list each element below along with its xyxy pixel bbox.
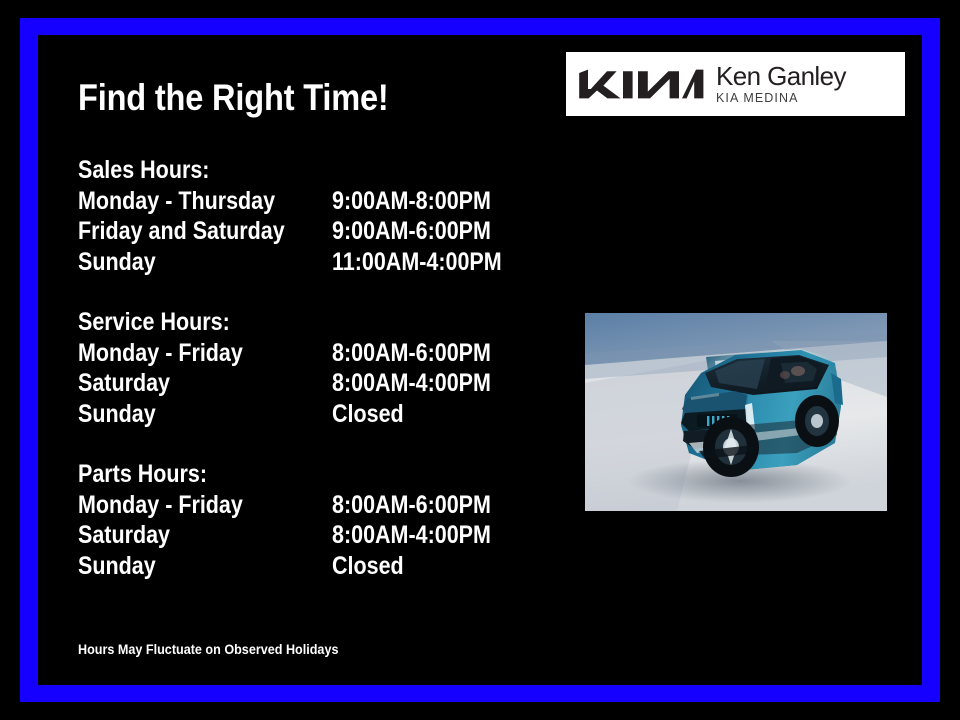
dealer-name: Ken Ganley	[716, 63, 846, 89]
hours-row-time: 11:00AM-4:00PM	[332, 247, 502, 278]
hours-row-time: 8:00AM-6:00PM	[332, 490, 491, 521]
hours-row-time: 8:00AM-4:00PM	[332, 368, 491, 399]
hours-row-time: 8:00AM-6:00PM	[332, 338, 491, 369]
hours-section-heading: Parts Hours:	[78, 459, 482, 490]
hours-row-time: 8:00AM-4:00PM	[332, 520, 491, 551]
hours-row: SundayClosed	[78, 551, 548, 582]
hours-row: Monday - Friday8:00AM-6:00PM	[78, 490, 548, 521]
hours-row: Monday - Thursday9:00AM-8:00PM	[78, 186, 548, 217]
hours-row: Saturday8:00AM-4:00PM	[78, 368, 548, 399]
hours-row-time: 9:00AM-6:00PM	[332, 216, 491, 247]
hours-row-day: Monday - Friday	[78, 490, 243, 521]
dealer-location-label: KIA MEDINA	[716, 92, 846, 105]
hours-section: Parts Hours:Monday - Friday8:00AM-6:00PM…	[78, 459, 548, 581]
hours-row-time: 9:00AM-8:00PM	[332, 186, 491, 217]
hours-row: Saturday8:00AM-4:00PM	[78, 520, 548, 551]
hours-row: Monday - Friday8:00AM-6:00PM	[78, 338, 548, 369]
vehicle-photo	[585, 313, 887, 511]
hours-row-day: Sunday	[78, 551, 156, 582]
hours-row-day: Sunday	[78, 399, 156, 430]
hours-list: Sales Hours:Monday - Thursday9:00AM-8:00…	[78, 155, 548, 581]
hours-row-day: Saturday	[78, 520, 170, 551]
hours-row-day: Saturday	[78, 368, 170, 399]
hours-row: SundayClosed	[78, 399, 548, 430]
holiday-disclaimer: Hours May Fluctuate on Observed Holidays	[78, 641, 338, 657]
hours-section: Sales Hours:Monday - Thursday9:00AM-8:00…	[78, 155, 548, 277]
hours-row: Friday and Saturday9:00AM-6:00PM	[78, 216, 548, 247]
hours-section-heading: Service Hours:	[78, 307, 482, 338]
hours-row-day: Monday - Friday	[78, 338, 243, 369]
dealer-name-block: Ken Ganley KIA MEDINA	[716, 63, 846, 105]
slide-canvas: Find the Right Time! Sales Hours:Monday …	[0, 0, 960, 720]
kia-logo-icon	[576, 67, 704, 101]
hours-section: Service Hours:Monday - Friday8:00AM-6:00…	[78, 307, 548, 429]
hours-row-day: Friday and Saturday	[78, 216, 285, 247]
page-title: Find the Right Time!	[78, 77, 389, 119]
hours-section-heading: Sales Hours:	[78, 155, 482, 186]
dealer-logo-panel: Ken Ganley KIA MEDINA	[566, 52, 905, 116]
hours-row: Sunday11:00AM-4:00PM	[78, 247, 548, 278]
hours-row-time: Closed	[332, 399, 404, 430]
hours-row-day: Sunday	[78, 247, 156, 278]
hours-row-day: Monday - Thursday	[78, 186, 275, 217]
hours-row-time: Closed	[332, 551, 404, 582]
